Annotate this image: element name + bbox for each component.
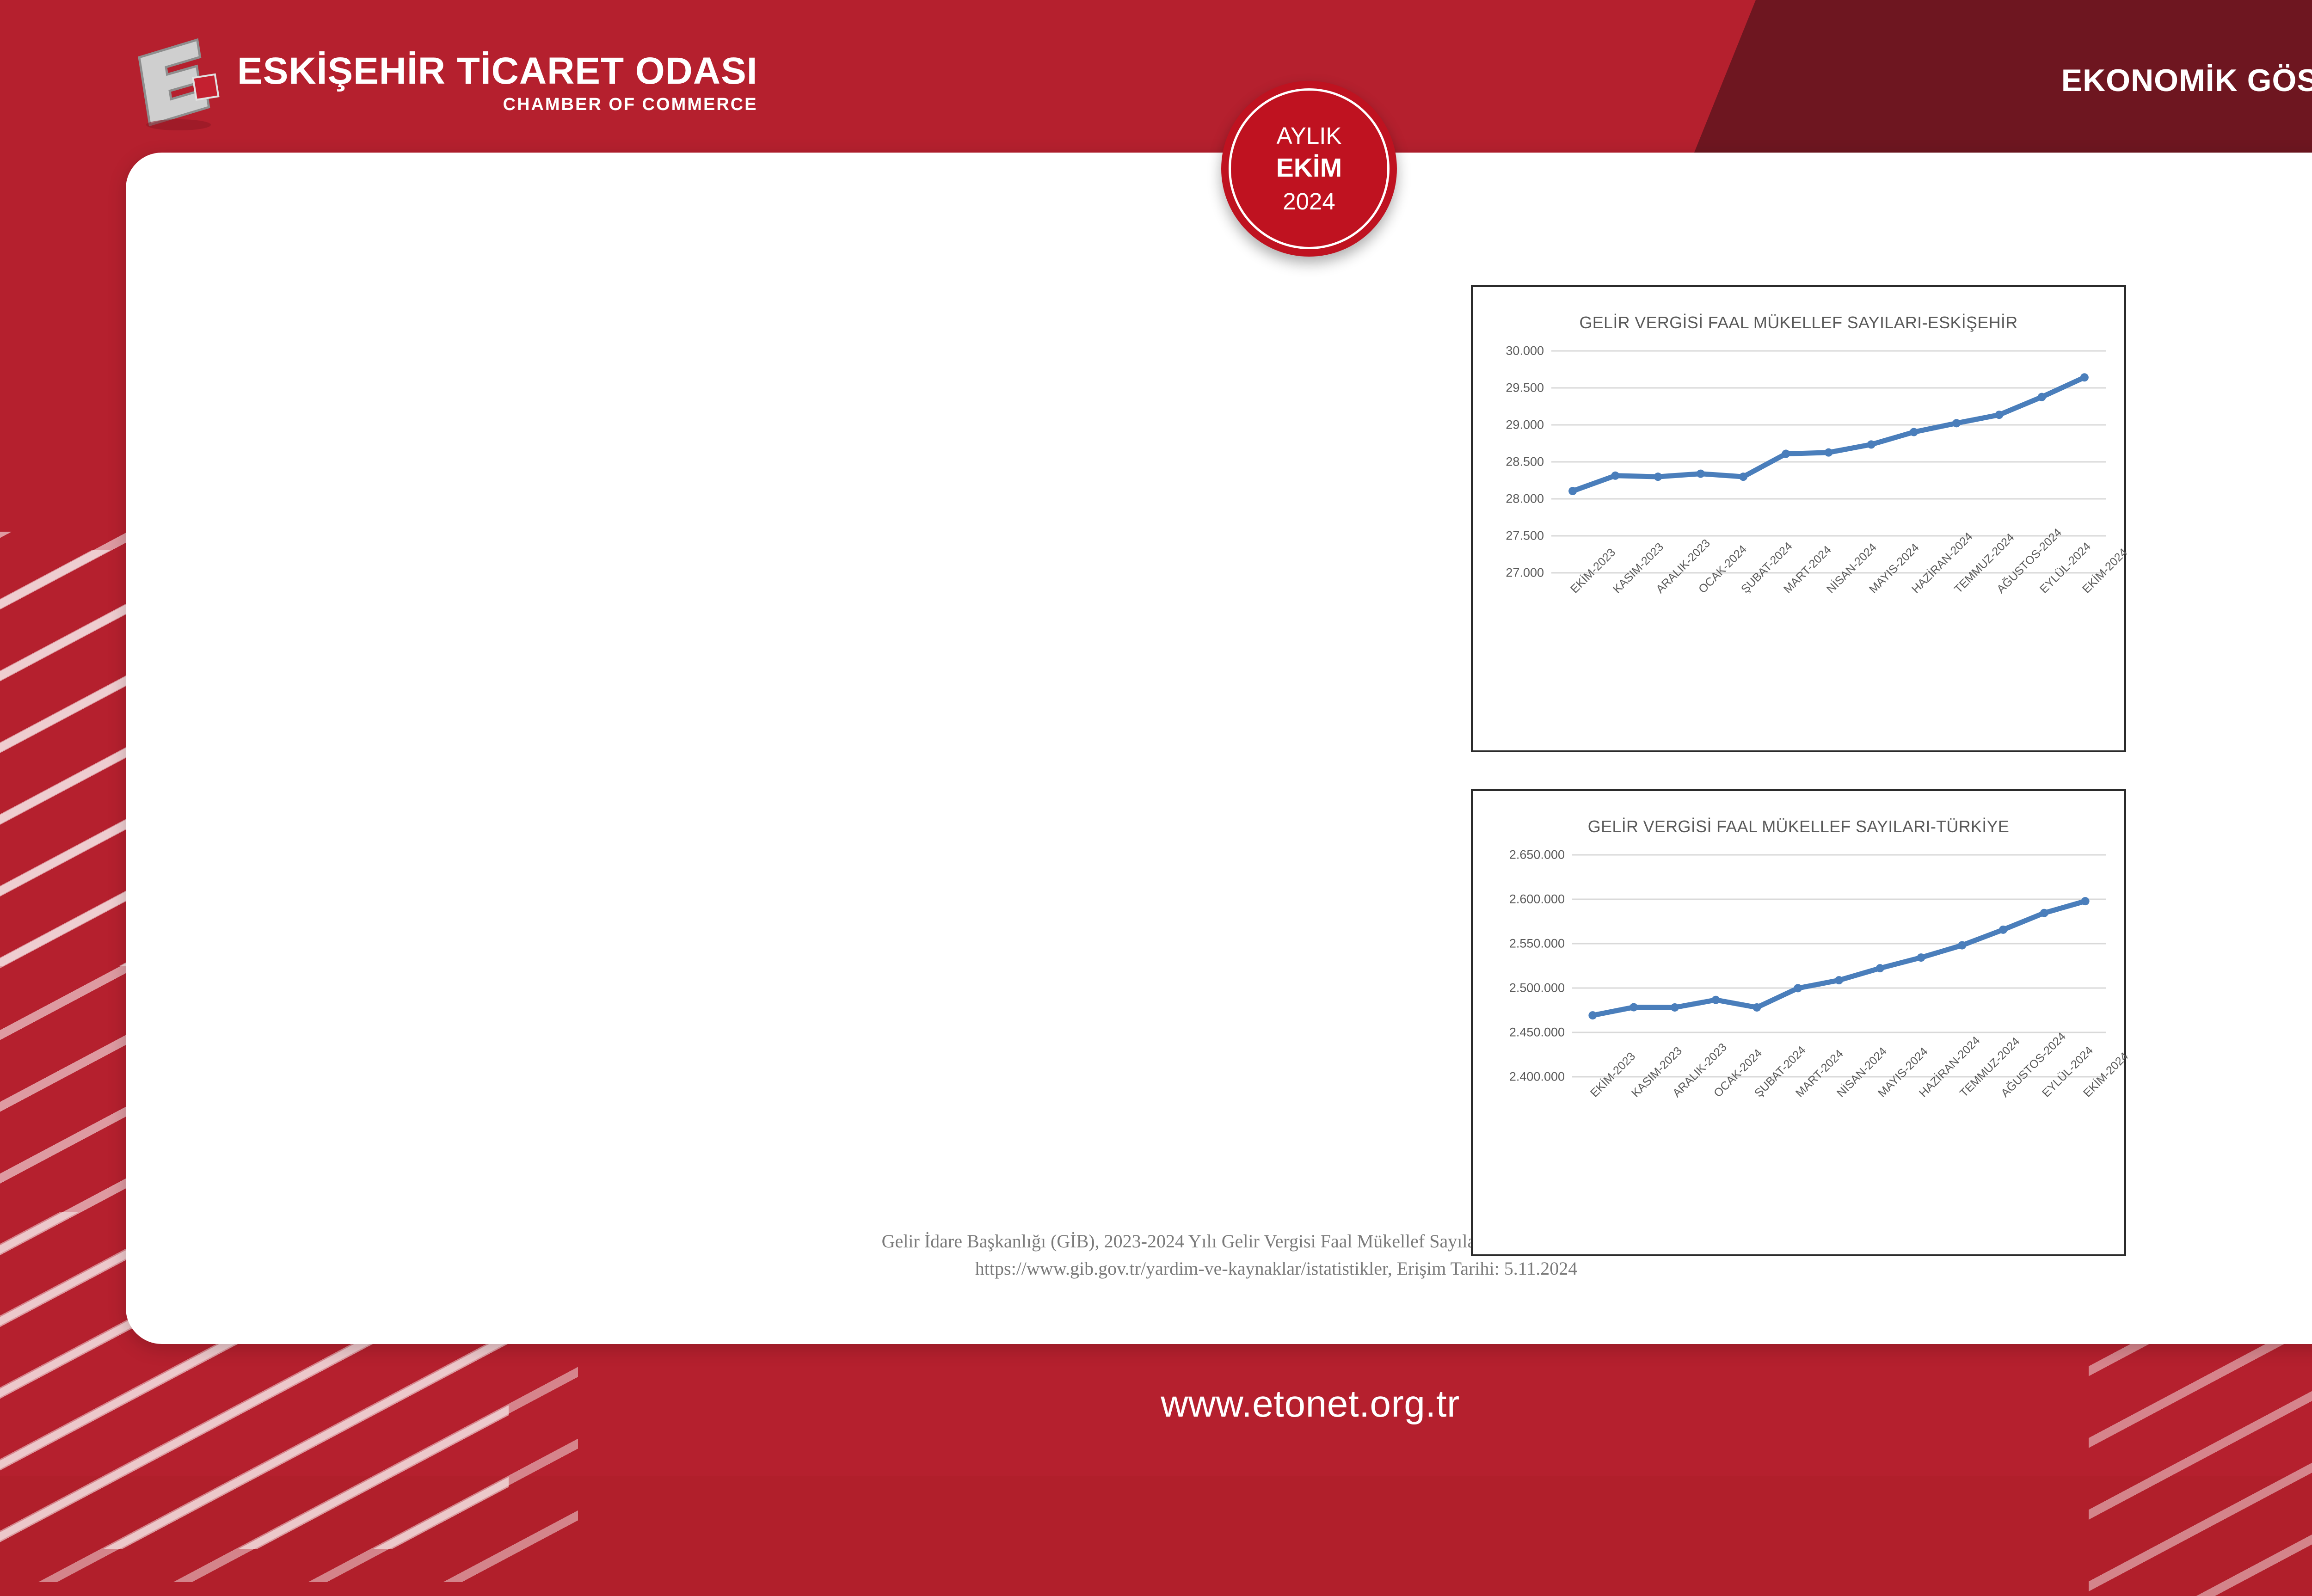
chart-turkiye-title: GELİR VERGİSİ FAAL MÜKELLEF SAYILARI-TÜR…: [1473, 791, 2124, 836]
chart-y-tick-label: 29.000: [1473, 418, 1544, 432]
chart-eskisehir: GELİR VERGİSİ FAAL MÜKELLEF SAYILARI-ESK…: [1471, 285, 2126, 752]
chart-data-point: [1958, 941, 1966, 950]
eto-logo-icon: [134, 32, 220, 132]
brand-lockup: ESKİŞEHİR TİCARET ODASI CHAMBER OF COMME…: [134, 44, 758, 132]
chart-series-line: [1573, 377, 2084, 491]
brand-title: ESKİŞEHİR TİCARET ODASI: [237, 52, 758, 90]
chart-data-point: [2081, 897, 2090, 905]
header-section-title: EKONOMİK GÖSTERGELER: [2061, 62, 2312, 98]
period-badge: AYLIK EKİM 2024: [1221, 81, 1397, 257]
chart-data-point: [1952, 419, 1961, 427]
chart-data-point: [1917, 953, 1925, 962]
footer-website-url: www.etonet.org.tr: [0, 1382, 2312, 1426]
chart-y-tick-label: 27.500: [1473, 529, 1544, 543]
chart-eskisehir-title: GELİR VERGİSİ FAAL MÜKELLEF SAYILARI-ESK…: [1473, 287, 2124, 332]
chart-y-tick-label: 2.400.000: [1473, 1070, 1565, 1084]
chart-data-point: [1611, 472, 1619, 480]
chart-y-tick-label: 28.000: [1473, 492, 1544, 506]
chart-y-tick-label: 27.000: [1473, 566, 1544, 580]
page-header: ESKİŞEHİR TİCARET ODASI CHAMBER OF COMME…: [0, 0, 2312, 153]
chart-data-point: [1794, 984, 1802, 992]
chart-y-tick-label: 2.600.000: [1473, 892, 1565, 907]
chart-data-point: [1712, 996, 1720, 1004]
chart-data-point: [1995, 411, 2003, 419]
chart-y-tick-label: 2.450.000: [1473, 1025, 1565, 1040]
chart-turkiye: GELİR VERGİSİ FAAL MÜKELLEF SAYILARI-TÜR…: [1471, 789, 2126, 1256]
chart-series-line: [1593, 901, 2085, 1015]
chart-data-point: [1739, 473, 1747, 481]
chart-y-tick-label: 2.650.000: [1473, 848, 1565, 862]
chart-plot-area: [1473, 332, 2124, 716]
chart-eskisehir-plot: 27.00027.50028.00028.50029.00029.50030.0…: [1473, 332, 2124, 716]
chart-data-point: [1629, 1003, 1638, 1012]
chart-data-point: [1910, 428, 1918, 436]
chart-data-point: [2080, 373, 2089, 381]
chart-data-point: [1671, 1003, 1679, 1012]
chart-data-point: [1867, 440, 1875, 448]
chart-y-tick-label: 30.000: [1473, 344, 1544, 358]
chart-y-tick-label: 2.550.000: [1473, 937, 1565, 951]
chart-data-point: [1825, 448, 1833, 457]
chart-data-point: [1835, 976, 1843, 984]
chart-data-point: [2038, 393, 2046, 401]
chart-y-tick-label: 2.500.000: [1473, 981, 1565, 995]
source-line-2: https://www.gib.gov.tr/yardim-ve-kaynakl…: [486, 1255, 2067, 1282]
badge-year-label: 2024: [1283, 188, 1335, 215]
badge-month-label: EKİM: [1276, 153, 1342, 184]
chart-data-point: [1752, 1003, 1761, 1012]
badge-frequency-label: AYLIK: [1277, 122, 1342, 150]
chart-data-point: [1697, 470, 1705, 478]
chart-turkiye-plot: 2.400.0002.450.0002.500.0002.550.0002.60…: [1473, 836, 2124, 1220]
chart-plot-area: [1473, 836, 2124, 1220]
chart-y-tick-label: 29.500: [1473, 381, 1544, 395]
chart-data-point: [1876, 964, 1884, 972]
chart-data-point: [1999, 926, 2007, 934]
chart-data-point: [1782, 450, 1790, 458]
chart-data-point: [1588, 1011, 1597, 1019]
chart-data-point: [1568, 487, 1577, 495]
chart-data-point: [2040, 909, 2048, 917]
chart-data-point: [1654, 473, 1662, 481]
brand-subtitle: CHAMBER OF COMMERCE: [237, 95, 758, 115]
brand-text: ESKİŞEHİR TİCARET ODASI CHAMBER OF COMME…: [237, 44, 758, 115]
chart-y-tick-label: 28.500: [1473, 455, 1544, 469]
